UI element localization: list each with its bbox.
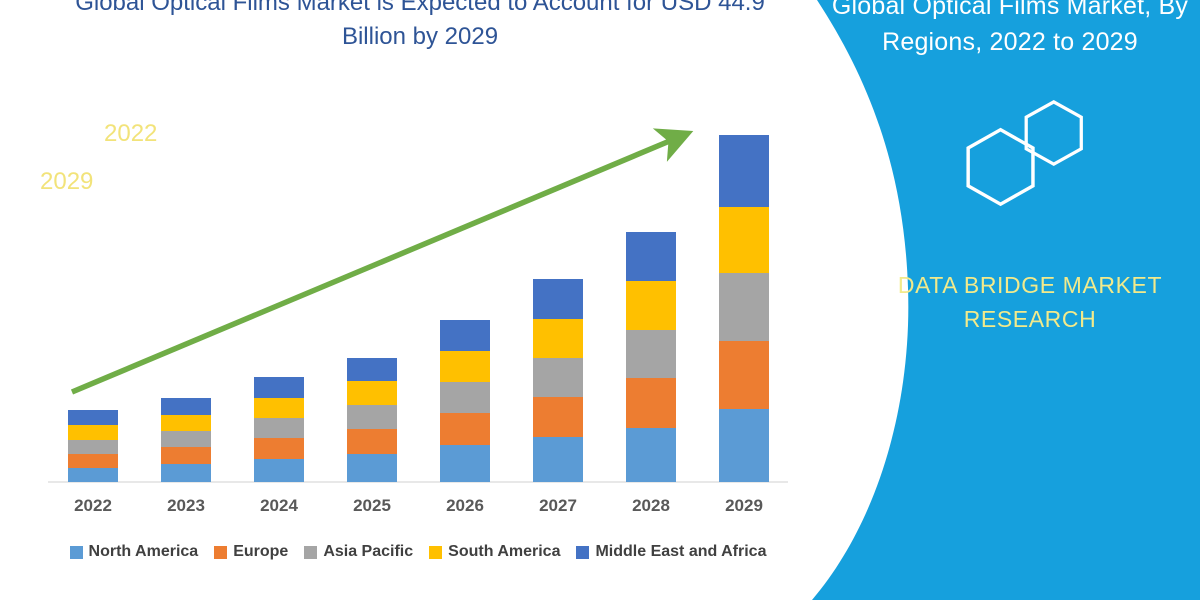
bar-segment-north-america — [254, 459, 304, 482]
hexagon-2029-shape — [968, 130, 1033, 205]
legend-label: South America — [448, 543, 560, 561]
bar-2022 — [68, 410, 118, 482]
bar-segment-middle-east-and-africa — [626, 232, 676, 281]
bar-segment-south-america — [254, 398, 304, 418]
x-axis-label-2025: 2025 — [342, 496, 402, 516]
bar-segment-europe — [347, 429, 397, 454]
bar-segment-middle-east-and-africa — [440, 320, 490, 351]
bar-segment-south-america — [719, 207, 769, 273]
bar-segment-asia-pacific — [719, 273, 769, 341]
stacked-bar-group — [48, 100, 788, 482]
bar-segment-europe — [533, 397, 583, 437]
legend-item-middle-east-and-africa[interactable]: Middle East and Africa — [576, 543, 766, 561]
brand-name: DATA BRIDGE MARKET RESEARCH — [880, 268, 1180, 336]
bar-2029 — [719, 135, 769, 482]
legend-swatch-icon — [576, 546, 589, 559]
hexagon-2022-shape — [1026, 102, 1081, 164]
bar-2023 — [161, 398, 211, 482]
panel-title: Global Optical Films Market, By Regions,… — [830, 0, 1190, 60]
bar-segment-asia-pacific — [347, 405, 397, 429]
bar-segment-south-america — [347, 381, 397, 405]
bar-segment-asia-pacific — [161, 431, 211, 447]
bar-segment-north-america — [626, 428, 676, 482]
legend-item-north-america[interactable]: North America — [70, 543, 199, 561]
bar-2024 — [254, 377, 304, 482]
x-axis-label-2023: 2023 — [156, 496, 216, 516]
bar-segment-asia-pacific — [440, 382, 490, 413]
bar-segment-europe — [626, 378, 676, 428]
legend-swatch-icon — [429, 546, 442, 559]
bar-segment-middle-east-and-africa — [533, 279, 583, 319]
bar-2026 — [440, 320, 490, 482]
bar-segment-europe — [161, 447, 211, 464]
legend-swatch-icon — [304, 546, 317, 559]
bar-segment-north-america — [719, 409, 769, 482]
bar-segment-south-america — [626, 281, 676, 330]
bar-2025 — [347, 358, 397, 482]
bar-segment-middle-east-and-africa — [254, 377, 304, 398]
bar-segment-north-america — [440, 445, 490, 482]
legend-swatch-icon — [214, 546, 227, 559]
bar-segment-asia-pacific — [533, 358, 583, 397]
bar-2027 — [533, 279, 583, 482]
bar-segment-middle-east-and-africa — [161, 398, 211, 415]
legend-label: Middle East and Africa — [595, 543, 766, 561]
hexagon-badges — [920, 85, 1140, 225]
bar-segment-europe — [440, 413, 490, 445]
chart-legend: North AmericaEuropeAsia PacificSouth Ame… — [48, 540, 788, 564]
legend-label: North America — [89, 543, 199, 561]
bar-segment-north-america — [533, 437, 583, 482]
legend-item-europe[interactable]: Europe — [214, 543, 288, 561]
bar-segment-south-america — [440, 351, 490, 382]
legend-swatch-icon — [70, 546, 83, 559]
bar-segment-south-america — [533, 319, 583, 358]
bar-segment-middle-east-and-africa — [68, 410, 118, 425]
bar-segment-south-america — [68, 425, 118, 440]
chart-title: Global Optical Films Market is Expected … — [60, 0, 780, 54]
bar-segment-north-america — [68, 468, 118, 482]
bar-segment-asia-pacific — [254, 418, 304, 438]
x-axis-label-2024: 2024 — [249, 496, 309, 516]
x-axis-labels: 20222023202420252026202720282029 — [48, 496, 788, 520]
legend-label: Europe — [233, 543, 288, 561]
bar-2028 — [626, 232, 676, 482]
bar-segment-middle-east-and-africa — [347, 358, 397, 381]
bar-segment-middle-east-and-africa — [719, 135, 769, 207]
x-axis-label-2026: 2026 — [435, 496, 495, 516]
bar-segment-asia-pacific — [626, 330, 676, 378]
legend-item-south-america[interactable]: South America — [429, 543, 560, 561]
bar-segment-north-america — [161, 464, 211, 482]
x-axis-label-2027: 2027 — [528, 496, 588, 516]
bar-segment-south-america — [161, 415, 211, 431]
bar-segment-europe — [68, 454, 118, 468]
infographic-canvas: 2029 2022 Global Optical Films Market, B… — [0, 0, 1200, 600]
bar-segment-north-america — [347, 454, 397, 482]
bar-segment-europe — [254, 438, 304, 459]
bar-segment-asia-pacific — [68, 440, 118, 454]
legend-item-asia-pacific[interactable]: Asia Pacific — [304, 543, 413, 561]
legend-label: Asia Pacific — [323, 543, 413, 561]
x-axis-label-2022: 2022 — [63, 496, 123, 516]
x-axis-label-2029: 2029 — [714, 496, 774, 516]
bar-segment-europe — [719, 341, 769, 409]
x-axis-label-2028: 2028 — [621, 496, 681, 516]
